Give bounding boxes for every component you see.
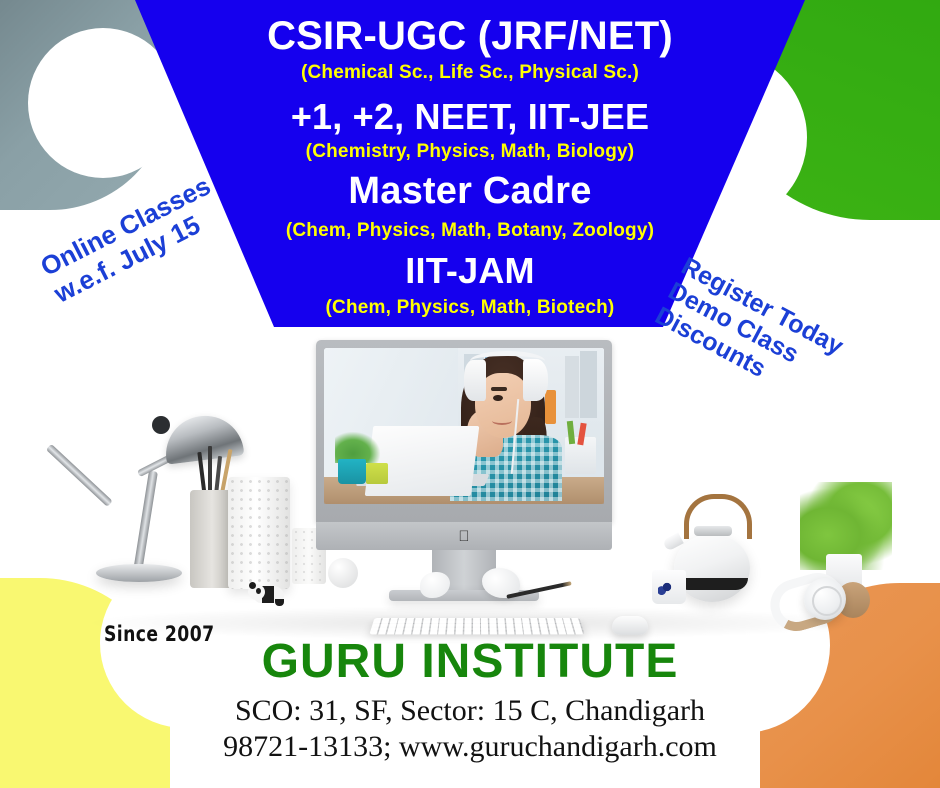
desk-lamp-arm-lower <box>46 444 113 507</box>
decorative-sphere <box>328 558 358 588</box>
perforated-pencil-cup <box>228 477 290 589</box>
desk-lamp-base <box>96 564 182 582</box>
panda-figurine <box>248 582 286 606</box>
apple-logo-icon:  <box>458 529 469 544</box>
pencil-bundle <box>198 446 232 496</box>
course-title-csir: CSIR-UGC (JRF/NET) <box>0 14 940 59</box>
photo-plant-pot <box>366 463 388 483</box>
teapot-band <box>676 578 748 590</box>
photo-laptop-screen <box>364 426 479 496</box>
photo-book <box>565 356 579 418</box>
imac-computer:  <box>316 340 612 550</box>
tea-cup-floral-pattern <box>658 578 676 596</box>
headphones-earcup-ring <box>812 586 842 616</box>
course-subjects-neet: (Chemistry, Physics, Math, Biology) <box>0 141 940 163</box>
photo-plant-pot <box>338 459 366 484</box>
course-title-neet: +1, +2, NEET, IIT-JEE <box>0 96 940 138</box>
course-subjects-csir: (Chemical Sc., Life Sc., Physical Sc.) <box>0 62 940 84</box>
institute-address: SCO: 31, SF, Sector: 15 C, Chandigarh <box>0 694 940 728</box>
institute-contact: 98721-13133; www.guruchandigarh.com <box>0 730 940 764</box>
photo-student-eyebrow <box>491 387 508 391</box>
apple-keyboard <box>369 618 584 634</box>
panda-leg <box>275 599 284 606</box>
magic-mouse <box>612 616 648 635</box>
photo-book <box>580 351 597 418</box>
desk-lamp-joint <box>152 416 170 434</box>
panda-ear <box>249 582 256 589</box>
photo-headphone-earcup <box>523 359 548 401</box>
photo-student-smile <box>492 417 512 425</box>
poster-canvas: CSIR-UGC (JRF/NET) (Chemical Sc., Life S… <box>0 0 940 788</box>
teapot-lid <box>694 526 732 536</box>
institute-name: GURU INSTITUTE <box>0 634 940 689</box>
photo-shelf-object <box>545 390 556 424</box>
imac-screen <box>324 348 604 504</box>
photo-headphone-earcup <box>464 360 486 401</box>
pencil <box>208 446 212 496</box>
panda-eye <box>256 588 261 594</box>
desk-lamp-arm-mid <box>133 471 158 573</box>
